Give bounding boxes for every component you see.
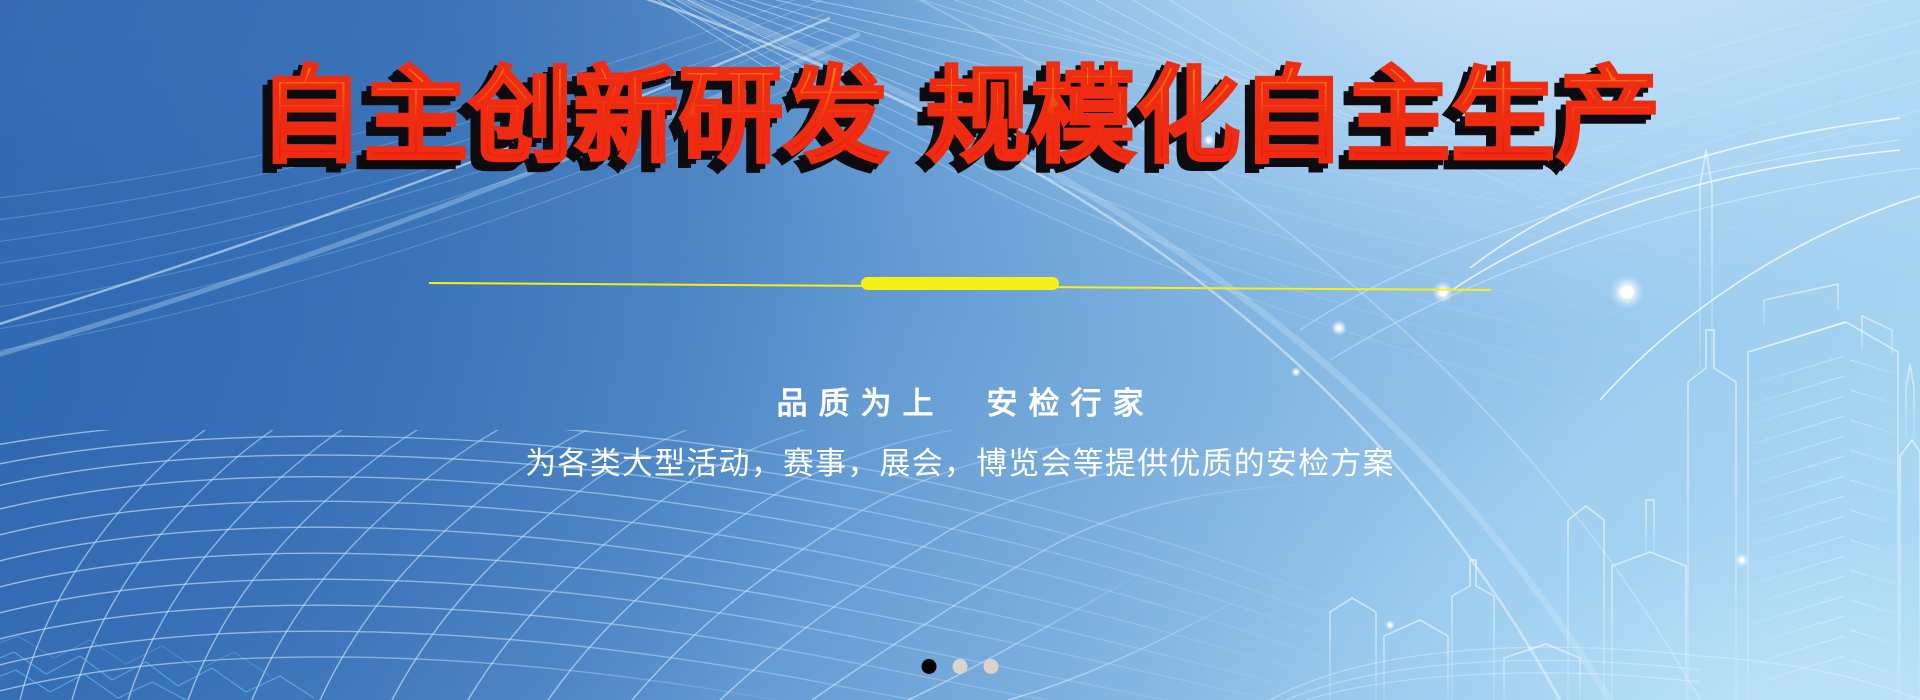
divider: [429, 276, 1491, 290]
carousel-pagination[interactable]: [922, 659, 999, 674]
subtitle-container: 品质为上 安检行家 为各类大型活动，赛事，展会，博览会等提供优质的安检方案: [0, 384, 1920, 486]
page-title: 自主创新研发 规模化自主生产: [259, 62, 1661, 170]
subtitle-secondary: 为各类大型活动，赛事，展会，博览会等提供优质的安检方案: [0, 444, 1920, 486]
headline-container: 自主创新研发 规模化自主生产: [0, 62, 1920, 170]
carousel-dot-1[interactable]: [922, 659, 937, 674]
carousel-dot-2[interactable]: [953, 659, 968, 674]
subtitle-primary: 品质为上 安检行家: [0, 384, 1920, 426]
hero-banner: 自主创新研发 规模化自主生产 品质为上 安检行家 为各类大型活动，赛事，展会，博…: [0, 0, 1920, 700]
divider-accent-bar: [861, 277, 1059, 290]
carousel-dot-3[interactable]: [984, 659, 999, 674]
